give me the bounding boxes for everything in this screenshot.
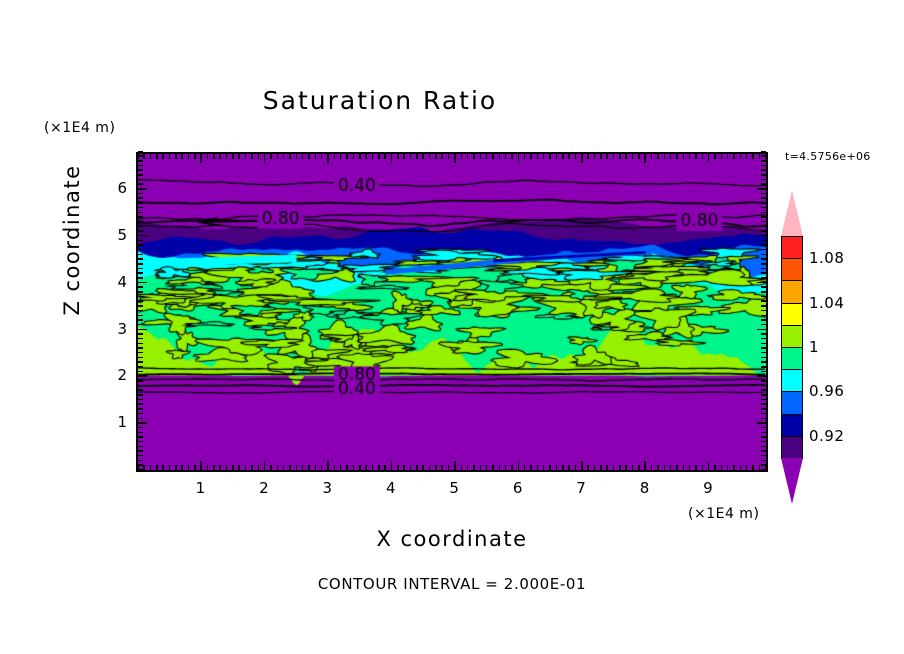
y-tick bbox=[138, 291, 143, 293]
x-tick-top bbox=[740, 154, 742, 159]
y-tick bbox=[138, 450, 143, 452]
x-tick-top bbox=[721, 154, 723, 159]
x-tick-top bbox=[492, 154, 494, 159]
x-tick bbox=[568, 465, 570, 470]
y-tick-right bbox=[761, 408, 766, 410]
y-tick-right bbox=[761, 197, 766, 199]
x-tick-top bbox=[600, 154, 602, 159]
x-tick-top bbox=[524, 154, 526, 159]
x-tick bbox=[467, 465, 469, 470]
x-tick-top bbox=[727, 154, 729, 159]
y-tick-right bbox=[761, 300, 766, 302]
x-tick bbox=[391, 461, 393, 470]
x-tick bbox=[714, 465, 716, 470]
y-tick-right bbox=[761, 179, 766, 181]
x-tick bbox=[708, 461, 710, 470]
x-tick-top bbox=[441, 154, 443, 159]
x-tick bbox=[619, 465, 621, 470]
colorbar-label: 1 bbox=[809, 338, 819, 356]
x-tick-top bbox=[651, 154, 653, 159]
y-tick-right bbox=[761, 221, 766, 223]
x-tick-top bbox=[486, 154, 488, 159]
y-tick bbox=[138, 422, 147, 424]
x-tick-top bbox=[302, 154, 304, 159]
x-tick bbox=[283, 465, 285, 470]
y-tick bbox=[138, 394, 143, 396]
x-tick bbox=[587, 465, 589, 470]
y-tick bbox=[138, 361, 143, 363]
x-tick-top bbox=[207, 154, 209, 159]
y-tick-right bbox=[761, 244, 766, 246]
x-tick-top bbox=[499, 154, 501, 159]
x-tick-top bbox=[416, 154, 418, 159]
x-tick-top bbox=[518, 154, 520, 163]
x-tick-top bbox=[714, 154, 716, 159]
y-tick bbox=[138, 277, 143, 279]
x-tick bbox=[638, 465, 640, 470]
y-tick-right bbox=[761, 394, 766, 396]
y-tick-label: 3 bbox=[101, 320, 127, 338]
x-tick bbox=[549, 465, 551, 470]
x-tick-top bbox=[733, 154, 735, 159]
x-tick-top bbox=[562, 154, 564, 159]
x-tick-label: 3 bbox=[323, 479, 333, 497]
x-tick bbox=[308, 465, 310, 470]
x-tick-top bbox=[537, 154, 539, 159]
x-tick bbox=[296, 465, 298, 470]
y-tick bbox=[138, 300, 143, 302]
x-tick-top bbox=[759, 154, 761, 159]
x-tick bbox=[289, 465, 291, 470]
x-tick-top bbox=[752, 154, 754, 159]
contour-plot-area bbox=[136, 152, 768, 472]
x-tick bbox=[245, 465, 247, 470]
x-tick bbox=[581, 461, 583, 470]
x-tick-top bbox=[232, 154, 234, 159]
x-tick-top bbox=[461, 154, 463, 159]
x-tick-top bbox=[657, 154, 659, 159]
x-tick bbox=[454, 461, 456, 470]
y-tick bbox=[138, 258, 143, 260]
x-tick-top bbox=[378, 154, 380, 159]
y-tick bbox=[138, 193, 143, 195]
colorbar-band bbox=[781, 436, 803, 460]
colorbar-band bbox=[781, 391, 803, 415]
colorbar-band bbox=[781, 236, 803, 260]
x-tick-top bbox=[435, 154, 437, 159]
x-tick-top bbox=[270, 154, 272, 159]
x-tick-top bbox=[397, 154, 399, 159]
x-tick-top bbox=[410, 154, 412, 159]
x-tick bbox=[492, 465, 494, 470]
y-tick-right bbox=[761, 399, 766, 401]
x-tick bbox=[518, 461, 520, 470]
y-tick-right bbox=[761, 183, 766, 185]
x-tick-top bbox=[194, 154, 196, 159]
x-tick bbox=[448, 465, 450, 470]
y-tick-right bbox=[761, 151, 766, 153]
x-tick-label: 9 bbox=[703, 479, 713, 497]
y-tick bbox=[138, 455, 143, 457]
x-tick bbox=[378, 465, 380, 470]
y-tick bbox=[138, 347, 143, 349]
x-tick bbox=[575, 465, 577, 470]
x-tick-top bbox=[169, 154, 171, 159]
y-tick bbox=[138, 151, 143, 153]
colorbar-band bbox=[781, 347, 803, 371]
x-tick-label: 5 bbox=[449, 479, 459, 497]
y-tick-right bbox=[761, 249, 766, 251]
y-tick-right bbox=[761, 357, 766, 359]
y-tick-right bbox=[761, 193, 766, 195]
x-tick bbox=[238, 465, 240, 470]
x-tick bbox=[416, 465, 418, 470]
y-tick bbox=[138, 221, 143, 223]
y-tick-right bbox=[761, 286, 766, 288]
y-tick-right bbox=[761, 310, 766, 312]
y-tick-right bbox=[761, 226, 766, 228]
x-tick-top bbox=[200, 154, 202, 163]
y-tick bbox=[138, 235, 147, 237]
y-tick-right bbox=[761, 427, 766, 429]
x-tick-top bbox=[644, 154, 646, 163]
y-tick bbox=[138, 432, 143, 434]
x-tick-top bbox=[746, 154, 748, 159]
y-tick-right bbox=[761, 207, 766, 209]
x-tick bbox=[397, 465, 399, 470]
y-tick bbox=[138, 165, 143, 167]
y-tick-right bbox=[761, 216, 766, 218]
y-tick-label: 4 bbox=[101, 273, 127, 291]
y-tick-right bbox=[761, 324, 766, 326]
x-tick bbox=[302, 465, 304, 470]
chart-title: Saturation Ratio bbox=[0, 86, 760, 115]
contour-field-canvas bbox=[138, 154, 766, 470]
x-tick bbox=[461, 465, 463, 470]
x-tick bbox=[759, 465, 761, 470]
y-tick bbox=[138, 179, 143, 181]
x-tick bbox=[499, 465, 501, 470]
y-tick bbox=[138, 343, 143, 345]
x-tick bbox=[334, 465, 336, 470]
x-tick bbox=[429, 465, 431, 470]
y-tick bbox=[138, 249, 143, 251]
x-tick-top bbox=[264, 154, 266, 163]
x-tick-top bbox=[353, 154, 355, 159]
x-tick bbox=[746, 465, 748, 470]
x-tick-label: 4 bbox=[386, 479, 396, 497]
x-tick-top bbox=[289, 154, 291, 159]
x-tick bbox=[473, 465, 475, 470]
x-tick-top bbox=[473, 154, 475, 159]
x-tick bbox=[270, 465, 272, 470]
x-tick bbox=[670, 465, 672, 470]
x-tick bbox=[353, 465, 355, 470]
y-tick bbox=[138, 371, 143, 373]
colorbar: 1.081.0410.960.92 bbox=[781, 212, 803, 464]
y-tick-right bbox=[761, 418, 766, 420]
x-tick bbox=[162, 465, 164, 470]
y-tick bbox=[138, 286, 143, 288]
colorbar-band bbox=[781, 280, 803, 304]
x-tick-top bbox=[321, 154, 323, 159]
x-tick-top bbox=[587, 154, 589, 159]
y-tick bbox=[138, 155, 143, 157]
y-tick bbox=[138, 282, 147, 284]
y-tick-right bbox=[761, 361, 766, 363]
x-tick bbox=[625, 465, 627, 470]
x-tick-top bbox=[594, 154, 596, 159]
colorbar-band bbox=[781, 414, 803, 438]
y-tick bbox=[138, 268, 143, 270]
x-tick bbox=[537, 465, 539, 470]
y-tick-right bbox=[761, 446, 766, 448]
y-tick bbox=[138, 202, 143, 204]
colorbar-band bbox=[781, 303, 803, 327]
y-tick-right bbox=[761, 352, 766, 354]
x-tick-top bbox=[277, 154, 279, 159]
y-tick bbox=[138, 263, 143, 265]
x-tick bbox=[702, 465, 704, 470]
y-tick-right bbox=[761, 436, 766, 438]
x-tick bbox=[676, 465, 678, 470]
x-tick-label: 7 bbox=[576, 479, 586, 497]
y-tick bbox=[138, 441, 143, 443]
x-tick-top bbox=[238, 154, 240, 159]
y-tick-right bbox=[761, 460, 766, 462]
x-tick-top bbox=[429, 154, 431, 159]
x-tick-top bbox=[702, 154, 704, 159]
y-tick bbox=[138, 305, 143, 307]
x-tick bbox=[251, 465, 253, 470]
x-tick bbox=[740, 465, 742, 470]
x-tick bbox=[543, 465, 545, 470]
y-tick bbox=[138, 212, 143, 214]
y-tick bbox=[138, 183, 143, 185]
x-tick-top bbox=[454, 154, 456, 163]
y-tick bbox=[138, 366, 143, 368]
x-tick bbox=[480, 465, 482, 470]
x-tick-top bbox=[143, 154, 145, 159]
y-tick-right bbox=[761, 263, 766, 265]
x-tick-top bbox=[511, 154, 513, 159]
x-tick bbox=[346, 465, 348, 470]
x-tick-top bbox=[340, 154, 342, 159]
x-tick bbox=[219, 465, 221, 470]
x-tick bbox=[156, 465, 158, 470]
x-tick-top bbox=[422, 154, 424, 159]
x-tick-top bbox=[556, 154, 558, 159]
y-tick bbox=[138, 338, 143, 340]
y-tick-right bbox=[761, 254, 766, 256]
x-tick bbox=[752, 465, 754, 470]
x-tick-top bbox=[213, 154, 215, 159]
x-tick-label: 6 bbox=[513, 479, 523, 497]
x-tick-top bbox=[391, 154, 393, 163]
y-tick bbox=[138, 169, 143, 171]
x-tick bbox=[644, 461, 646, 470]
x-tick bbox=[613, 465, 615, 470]
x-tick bbox=[695, 465, 697, 470]
x-tick-top bbox=[226, 154, 228, 159]
y-tick bbox=[138, 385, 143, 387]
x-tick-top bbox=[480, 154, 482, 159]
x-tick-top bbox=[175, 154, 177, 159]
x-tick bbox=[594, 465, 596, 470]
x-tick bbox=[258, 465, 260, 470]
y-tick bbox=[138, 357, 143, 359]
y-tick bbox=[138, 408, 143, 410]
y-tick-right bbox=[761, 389, 766, 391]
y-tick bbox=[138, 464, 143, 466]
x-tick bbox=[359, 465, 361, 470]
x-tick bbox=[664, 465, 666, 470]
x-tick-top bbox=[505, 154, 507, 159]
y-tick-right bbox=[761, 319, 766, 321]
x-axis-unit: (×1E4 m) bbox=[688, 506, 759, 522]
colorbar-band bbox=[781, 325, 803, 349]
x-tick-top bbox=[403, 154, 405, 159]
y-tick-right bbox=[757, 422, 766, 424]
y-tick bbox=[138, 352, 143, 354]
y-tick-right bbox=[761, 212, 766, 214]
y-tick-right bbox=[757, 329, 766, 331]
y-tick-right bbox=[761, 202, 766, 204]
x-tick-top bbox=[664, 154, 666, 159]
x-tick-top bbox=[258, 154, 260, 159]
y-tick-right bbox=[761, 258, 766, 260]
y-tick-right bbox=[761, 230, 766, 232]
y-tick-right bbox=[757, 375, 766, 377]
y-tick-right bbox=[761, 366, 766, 368]
y-tick bbox=[138, 174, 143, 176]
y-tick-right bbox=[761, 455, 766, 457]
y-tick-right bbox=[761, 385, 766, 387]
x-tick-top bbox=[625, 154, 627, 159]
x-tick bbox=[410, 465, 412, 470]
y-tick bbox=[138, 315, 143, 317]
x-tick-label: 8 bbox=[640, 479, 650, 497]
x-tick bbox=[321, 465, 323, 470]
x-tick-top bbox=[575, 154, 577, 159]
y-tick bbox=[138, 197, 143, 199]
x-tick bbox=[277, 465, 279, 470]
x-tick bbox=[327, 461, 329, 470]
y-tick bbox=[138, 207, 143, 209]
colorbar-band bbox=[781, 369, 803, 393]
y-tick bbox=[138, 226, 143, 228]
x-tick-top bbox=[568, 154, 570, 159]
y-tick bbox=[138, 389, 143, 391]
y-tick-right bbox=[761, 343, 766, 345]
y-tick-right bbox=[761, 296, 766, 298]
x-tick bbox=[365, 465, 367, 470]
x-tick bbox=[403, 465, 405, 470]
x-tick-top bbox=[219, 154, 221, 159]
x-tick-top bbox=[467, 154, 469, 159]
y-tick bbox=[138, 399, 143, 401]
x-tick bbox=[169, 465, 171, 470]
y-tick-right bbox=[761, 240, 766, 242]
y-tick bbox=[138, 436, 143, 438]
y-tick-right bbox=[761, 165, 766, 167]
x-tick-top bbox=[188, 154, 190, 159]
y-tick bbox=[138, 160, 143, 162]
y-tick-right bbox=[761, 371, 766, 373]
x-tick bbox=[181, 465, 183, 470]
x-tick-label: 1 bbox=[196, 479, 206, 497]
x-tick-top bbox=[162, 154, 164, 159]
x-tick bbox=[556, 465, 558, 470]
contour-interval-caption: CONTOUR INTERVAL = 2.000E-01 bbox=[0, 575, 904, 593]
y-tick-right bbox=[761, 291, 766, 293]
y-tick bbox=[138, 244, 143, 246]
x-tick-top bbox=[708, 154, 710, 163]
x-tick bbox=[384, 465, 386, 470]
x-tick-label: 2 bbox=[259, 479, 269, 497]
colorbar-label: 0.92 bbox=[809, 427, 844, 445]
y-tick-right bbox=[757, 235, 766, 237]
y-tick-right bbox=[757, 188, 766, 190]
x-tick-top bbox=[683, 154, 685, 159]
y-tick-right bbox=[761, 305, 766, 307]
y-tick bbox=[138, 418, 143, 420]
x-tick bbox=[530, 465, 532, 470]
y-tick-right bbox=[761, 403, 766, 405]
x-tick bbox=[721, 465, 723, 470]
colorbar-label: 1.08 bbox=[809, 249, 844, 267]
x-tick bbox=[689, 465, 691, 470]
y-tick bbox=[138, 460, 143, 462]
y-tick bbox=[138, 413, 143, 415]
y-tick-right bbox=[761, 268, 766, 270]
x-tick-top bbox=[581, 154, 583, 163]
y-tick bbox=[138, 319, 143, 321]
x-tick-top bbox=[372, 154, 374, 159]
x-tick bbox=[683, 465, 685, 470]
x-tick-top bbox=[632, 154, 634, 159]
x-tick-top bbox=[359, 154, 361, 159]
y-tick-right bbox=[761, 469, 766, 471]
x-tick-top bbox=[613, 154, 615, 159]
x-tick-top bbox=[543, 154, 545, 159]
y-tick-right bbox=[761, 464, 766, 466]
y-tick bbox=[138, 296, 143, 298]
y-tick bbox=[138, 310, 143, 312]
y-tick-right bbox=[761, 160, 766, 162]
colorbar-top-cap bbox=[781, 190, 803, 236]
x-tick bbox=[727, 465, 729, 470]
x-axis-label: X coordinate bbox=[136, 527, 768, 551]
y-tick bbox=[138, 333, 143, 335]
x-tick bbox=[264, 461, 266, 470]
y-tick bbox=[138, 469, 143, 471]
x-tick bbox=[200, 461, 202, 470]
y-tick bbox=[138, 446, 143, 448]
x-tick-top bbox=[150, 154, 152, 159]
colorbar-label: 1.04 bbox=[809, 294, 844, 312]
y-tick-right bbox=[761, 155, 766, 157]
y-tick bbox=[138, 240, 143, 242]
y-tick bbox=[138, 216, 143, 218]
x-tick bbox=[511, 465, 513, 470]
x-tick-top bbox=[676, 154, 678, 159]
y-tick bbox=[138, 329, 147, 331]
colorbar-label: 0.96 bbox=[809, 382, 844, 400]
y-tick bbox=[138, 427, 143, 429]
x-tick-top bbox=[283, 154, 285, 159]
x-tick-top bbox=[530, 154, 532, 159]
